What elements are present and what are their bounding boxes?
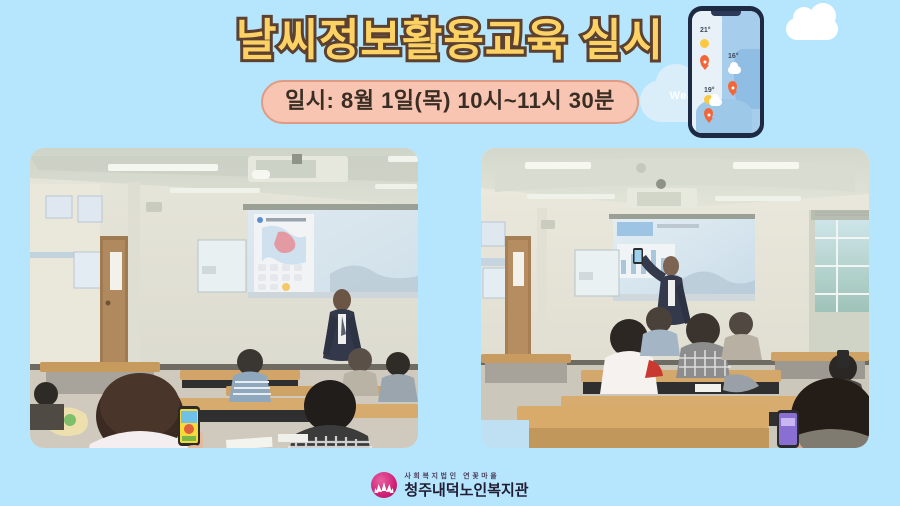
phone-notch [711, 11, 741, 16]
sun-icon [700, 39, 709, 48]
weather-phone-illustration: Weather 21° 16° 19° [640, 2, 820, 140]
location-pin-icon [700, 55, 709, 67]
photo-left-artwork [30, 148, 418, 448]
location-pin-icon [704, 108, 713, 120]
cloud-icon [709, 98, 722, 106]
location-pin-icon [728, 81, 737, 93]
photo-lecture-wide [481, 148, 869, 448]
phone-screen: 21° 16° 19° [692, 11, 760, 133]
cloud-icon [728, 66, 741, 74]
poster-canvas: 날씨정보활용교육 실시 일시: 8월 1일(목) 10시~11시 30분 Wea… [0, 0, 900, 506]
weather-reading-1: 21° [700, 27, 711, 67]
temperature-label-2: 16° [728, 53, 741, 61]
org-text-block: 사회복지법인 연꽃마을 청주내덕노인복지관 [404, 473, 528, 498]
smartphone-mockup: 21° 16° 19° [688, 6, 764, 138]
temperature-label-1: 21° [700, 27, 711, 35]
lotus-petals-icon [375, 482, 394, 494]
photo-right-artwork [481, 148, 869, 448]
photo-lecture-front [30, 148, 418, 448]
cloud-front-icon [786, 18, 838, 40]
lotus-logo-icon [371, 472, 397, 498]
org-subtitle: 사회복지법인 연꽃마을 [404, 473, 528, 480]
footer-branding: 사회복지법인 연꽃마을 청주내덕노인복지관 [0, 472, 900, 498]
org-name: 청주내덕노인복지관 [404, 483, 528, 498]
weather-reading-3: 19° [704, 87, 715, 120]
weather-reading-2: 16° [728, 53, 741, 93]
schedule-badge: 일시: 8월 1일(목) 10시~11시 30분 [261, 80, 639, 124]
